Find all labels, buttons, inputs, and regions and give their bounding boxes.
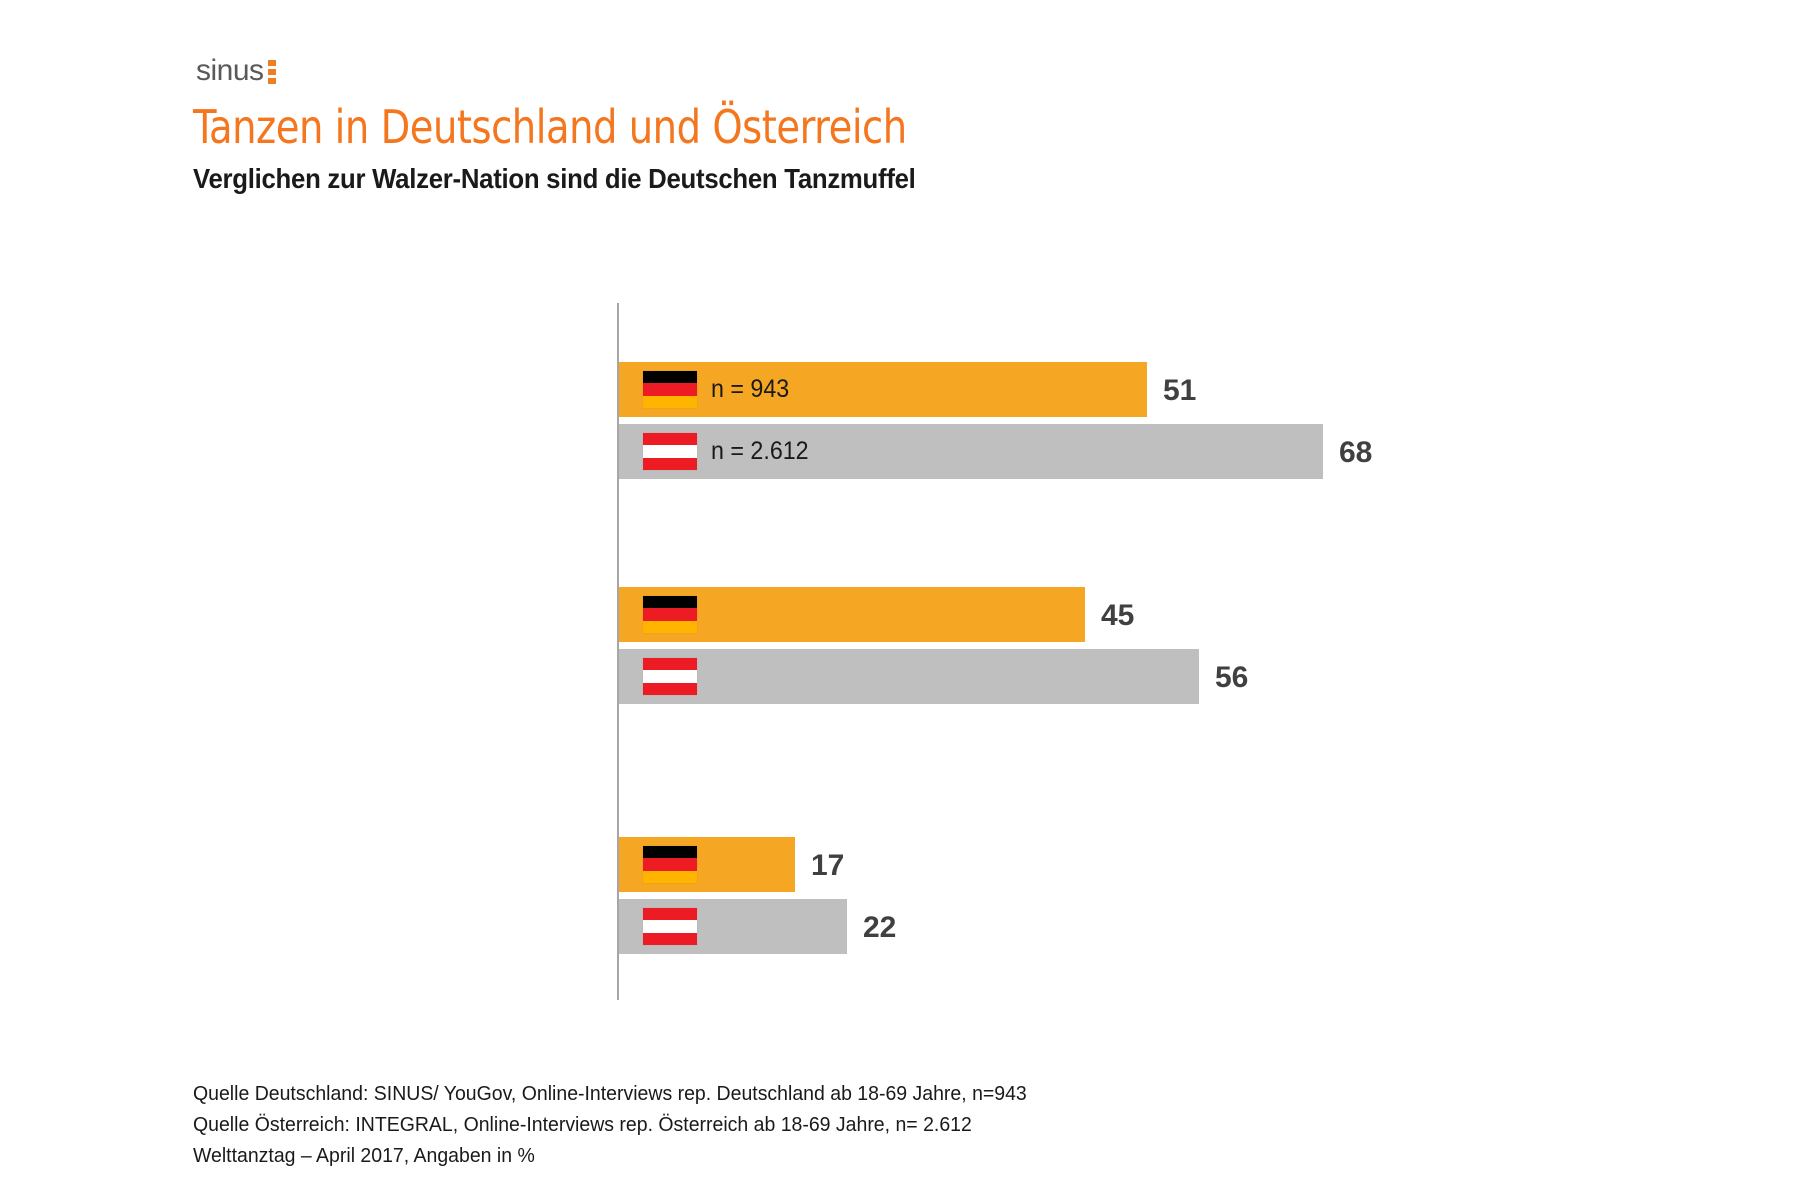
bar-de-1[interactable] xyxy=(619,587,1085,642)
austria-flag-icon xyxy=(643,908,697,945)
value-label-de-2: 17 xyxy=(811,849,844,883)
source-line-austria: Quelle Österreich: INTEGRAL, Online-Inte… xyxy=(193,1109,1027,1140)
sample-size-label-de: n = 943 xyxy=(711,375,789,404)
value-label-at-2: 22 xyxy=(863,911,896,945)
value-label-de-1: 45 xyxy=(1101,599,1134,633)
value-label-at-0: 68 xyxy=(1339,436,1372,470)
austria-flag-icon xyxy=(643,658,697,695)
bar-chart: Tanzen zumindest hin und wieder n = 943 … xyxy=(0,0,1800,1200)
germany-flag-icon xyxy=(643,596,697,633)
germany-flag-icon xyxy=(643,371,697,408)
germany-flag-icon xyxy=(643,846,697,883)
sample-size-label-at: n = 2.612 xyxy=(711,437,809,466)
bar-at-2[interactable] xyxy=(619,899,847,954)
source-footnote: Quelle Deutschland: SINUS/ YouGov, Onlin… xyxy=(193,1078,1027,1171)
source-line-germany: Quelle Deutschland: SINUS/ YouGov, Onlin… xyxy=(193,1078,1027,1109)
bar-at-0[interactable]: n = 2.612 xyxy=(619,424,1323,479)
value-label-at-1: 56 xyxy=(1215,661,1248,695)
bar-de-2[interactable] xyxy=(619,837,795,892)
austria-flag-icon xyxy=(643,433,697,470)
value-label-de-0: 51 xyxy=(1163,374,1196,408)
bar-de-0[interactable]: n = 943 xyxy=(619,362,1147,417)
source-line-survey: Welttanztag – April 2017, Angaben in % xyxy=(193,1140,1027,1171)
bar-at-1[interactable] xyxy=(619,649,1199,704)
